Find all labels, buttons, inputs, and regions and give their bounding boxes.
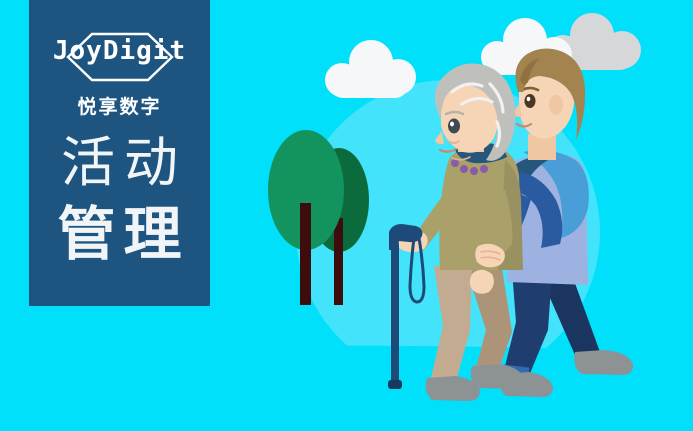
woman-eye (448, 119, 460, 134)
cane-shaft (391, 244, 399, 386)
cane-tip (388, 380, 402, 389)
logo-hexagon-mark: JoyDigit (29, 30, 210, 84)
man-ear (549, 95, 563, 115)
title-panel: JoyDigit 悦享数字 活动 管理 (29, 0, 210, 306)
man-eye (525, 94, 536, 108)
poster-canvas: JoyDigit 悦享数字 活动 管理 (0, 0, 693, 431)
page-title-line-1: 活动 (29, 136, 210, 190)
logo-wordmark: JoyDigit (29, 36, 210, 66)
brand-logo: JoyDigit 悦享数字 (29, 30, 210, 119)
logo-chinese-name: 悦享数字 (29, 92, 210, 119)
page-title-line-2: 管理 (29, 205, 210, 263)
woman-eye-highlight (450, 122, 454, 127)
man-eye-highlight (527, 97, 531, 101)
woman-hip-hand (470, 270, 494, 294)
